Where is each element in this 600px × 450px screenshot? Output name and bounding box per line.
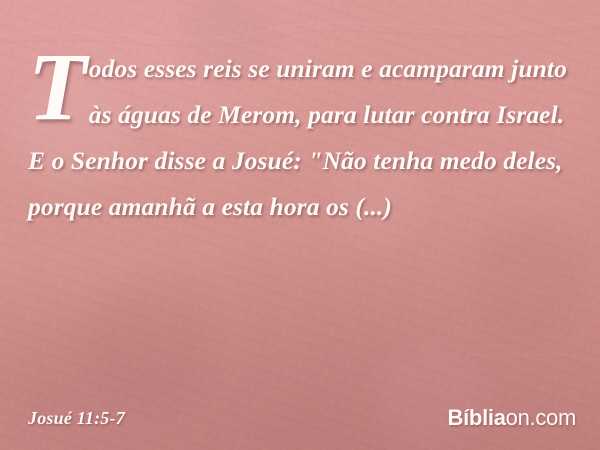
verse-text: odos esses reis se uniram e acamparam ju… bbox=[28, 46, 574, 230]
card-footer: Josué 11:5-7 Bíbliaon.com bbox=[28, 404, 576, 432]
bibliaon-logo[interactable]: Bíbliaon.com bbox=[448, 405, 576, 431]
logo-text-biblia: Bíblia bbox=[448, 405, 506, 431]
verse-card: T odos esses reis se uniram e acamparam … bbox=[0, 0, 600, 450]
scripture-reference: Josué 11:5-7 bbox=[28, 408, 125, 429]
logo-text-oncom: on.com bbox=[506, 405, 576, 431]
verse-dropcap: T bbox=[28, 48, 87, 127]
verse-block: T odos esses reis se uniram e acamparam … bbox=[28, 46, 574, 230]
